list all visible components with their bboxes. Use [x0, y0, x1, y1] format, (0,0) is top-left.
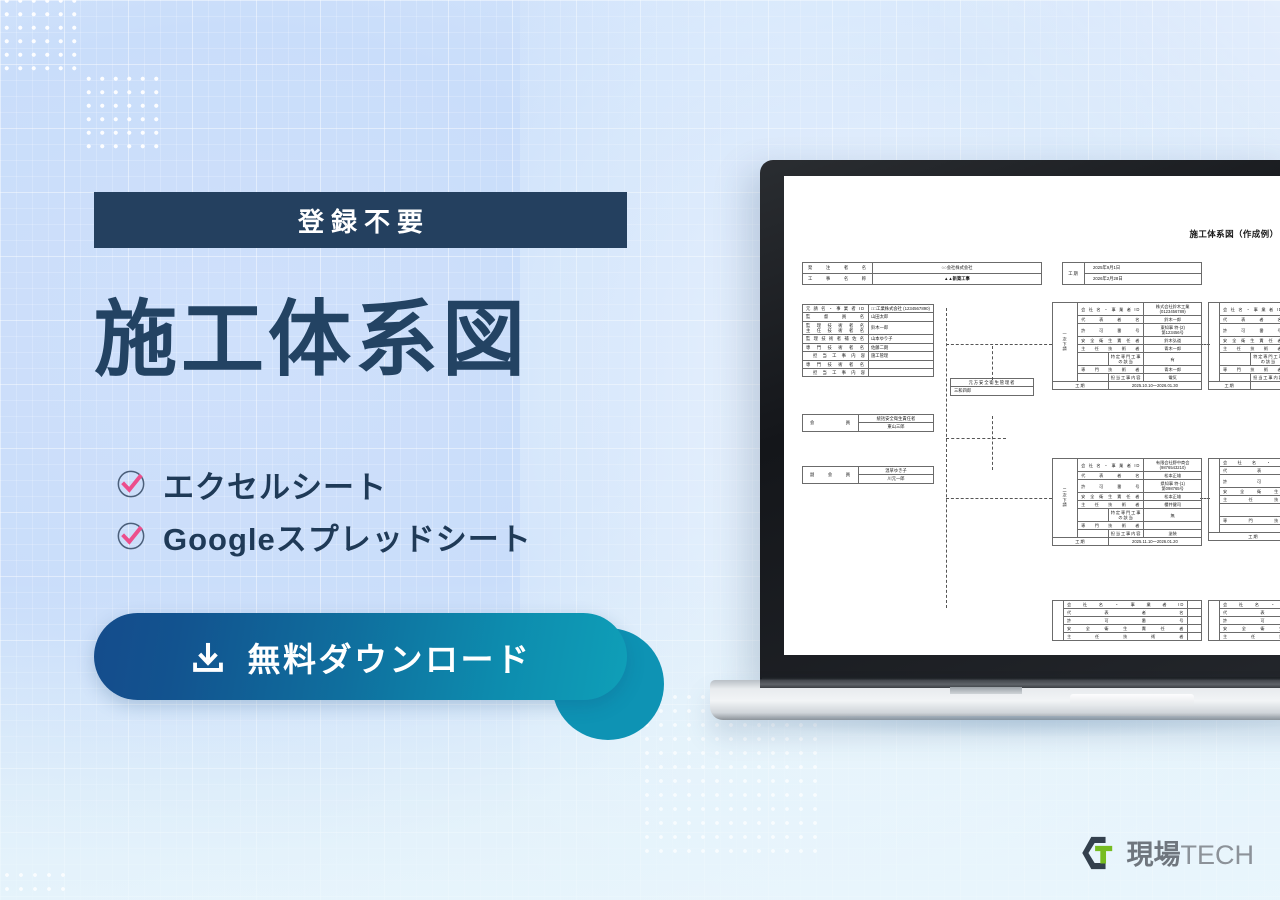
table-row: 副会員 温草ゆき子	[803, 467, 934, 475]
subcontractor-card-1: 一次下請 会社名・事業者ID 株式会社鈴木工業 (0123456789) 代表者…	[1052, 302, 1202, 390]
member-name-0: 東山三郎	[859, 423, 934, 431]
prime-key-7: 担当工事内容	[803, 368, 869, 376]
prime-value-5: 施工管理	[869, 352, 934, 360]
sub-value-chief-2	[1188, 633, 1202, 641]
sub-key-rep: 代表者名	[1220, 316, 1280, 324]
sub-key-period: 工期	[1209, 382, 1251, 390]
tier-label-0: 一次下請	[1053, 303, 1078, 382]
sub-value-period-0: 2025.10.10～2026.01.30	[1108, 382, 1201, 390]
subcontractor-card-3: 会社名・事業者ID 代表者名 許可番号 安全衛生責任者	[1052, 600, 1202, 641]
sub-value-specialty-flag-1: 無	[1144, 509, 1202, 522]
sub-key-spec-eng: 専門技術者	[1220, 517, 1280, 525]
subcontractor-card-4: 会社名・事業者ID メーカー機器株式会社 (1122334455) 代表者名 許…	[1208, 302, 1280, 390]
feature-label: エクセルシート	[163, 462, 387, 507]
sub-key-license: 許可番号	[1220, 617, 1280, 625]
prime-value-3: 山本ゆり子	[869, 335, 934, 343]
table-row: 代表者名	[1209, 609, 1280, 617]
logo-text: 現場TECH	[1127, 833, 1255, 872]
sub-value-rep-1: 松本正雄	[1144, 472, 1202, 480]
prime-value-7	[869, 368, 934, 376]
sub-key-scope: 担当工事内容	[1108, 530, 1144, 538]
table-row: 代表者名	[1053, 609, 1202, 617]
subcontractor-card-6: 会社名・事業者ID 代表者名 許可番号 安全衛生責任者	[1208, 600, 1280, 641]
table-row: 工期	[1209, 382, 1280, 390]
period-to: 2026年2月28日	[1085, 274, 1202, 285]
laptop-trackpad	[1070, 694, 1194, 706]
table-row: 会社名・事業者ID	[1209, 459, 1280, 467]
member-name-1: 川元一郎	[859, 475, 934, 483]
free-download-button[interactable]: 無料ダウンロード	[94, 613, 627, 700]
subcontractor-table: 会社名・事業者ID 代表者名 許可番号 安全衛生責任者	[1208, 458, 1280, 541]
sub-value-spec-eng-0: 青木一郎	[1144, 366, 1202, 374]
tier-label-5	[1209, 601, 1220, 641]
laptop-screen: 施工体系図（作成例） 発注者名 ○○会社株式会社 工事名称 ▲▲新築工事 工	[784, 176, 1280, 655]
member-key-0: 会員	[803, 415, 859, 432]
sub-key-rep: 代表者名	[1064, 609, 1188, 617]
table-row: 専門技術者名	[803, 360, 934, 368]
sub-key-license: 許可番号	[1078, 324, 1144, 337]
table-row: 専門技術者	[1209, 517, 1280, 525]
table-row: 主任技術者	[1209, 633, 1280, 641]
table-row: 三和四郎	[951, 387, 1034, 395]
sub-key-scope: 担当工事内容	[1251, 374, 1280, 382]
table-row: 工期 2025.11.10～2026.01.20	[1053, 538, 1202, 546]
sub-key-scope: 担当工事内容	[1108, 374, 1144, 382]
sub-key-company: 会社名・事業者ID	[1220, 601, 1280, 609]
prime-key-2: 監理技術者名 主任技術者名	[803, 321, 869, 335]
construction-system-diagram-document: 施工体系図（作成例） 発注者名 ○○会社株式会社 工事名称 ▲▲新築工事 工	[784, 176, 1280, 646]
sub-key-rep: 代表者名	[1220, 467, 1280, 475]
sub-value-safety-1: 松本正雄	[1144, 493, 1202, 501]
document-header-table: 発注者名 ○○会社株式会社 工事名称 ▲▲新築工事	[802, 262, 1042, 285]
logo-text-en: TECH	[1181, 840, 1255, 870]
subcontractor-table: 一次下請 会社名・事業者ID 株式会社鈴木工業 (0123456789) 代表者…	[1052, 302, 1202, 390]
sub-key-period: 工期	[1209, 533, 1280, 541]
safety-manager-value: 三和四郎	[951, 387, 1034, 395]
logo-text-jp: 現場	[1127, 840, 1181, 870]
sub-value-license-2	[1188, 617, 1202, 625]
subcontractor-card-5: 会社名・事業者ID 代表者名 許可番号 安全衛生責任者	[1208, 458, 1280, 541]
download-button-label: 無料ダウンロード	[248, 633, 532, 681]
table-row: 代表者名	[1209, 316, 1280, 324]
sub-value-spec-eng-1	[1144, 522, 1202, 530]
connector-h-1	[946, 344, 1052, 345]
table-row: 許可番号	[1053, 617, 1202, 625]
tier-label-1: 二次下請	[1053, 459, 1078, 538]
table-row: 元請名・事業者ID □□工業株式会社 (1234567890)	[803, 305, 934, 313]
sub-key-safety: 安全衛生責任者	[1064, 625, 1188, 633]
sub-key-license: 許可番号	[1078, 480, 1144, 493]
sub-key-spec-eng: 専門技術者	[1078, 366, 1144, 374]
safety-manager-box: 元方安全衛生管理者 三和四郎	[950, 378, 1034, 396]
sub-key-specialty-flag: 特定専門工事の該当	[1251, 353, 1280, 366]
table-row: 一次下請 会社名・事業者ID 株式会社鈴木工業 (0123456789)	[1053, 303, 1202, 316]
feature-list: エクセルシート Googleスプレッドシート	[116, 458, 636, 562]
sub-key-safety: 安全衛生責任者	[1078, 493, 1144, 501]
sub-value-chief-1: 櫻井健司	[1144, 501, 1202, 509]
table-row: 専門技術者名 佐藤二朗	[803, 343, 934, 351]
prime-value-1: 山田太郎	[869, 313, 934, 321]
page-title: 施工体系図	[94, 296, 654, 384]
table-row: 許可番号	[1209, 617, 1280, 625]
sub-key-company: 会社名・事業者ID	[1220, 459, 1280, 467]
laptop-shadow	[722, 716, 1280, 738]
sub-key-chief: 主任技術者	[1220, 345, 1280, 353]
document-title: 施工体系図（作成例）	[1084, 228, 1280, 240]
sub-key-company: 会社名・事業者ID	[1078, 303, 1144, 316]
sub-key-company: 会社名・事業者ID	[1078, 459, 1144, 472]
table-row: 許可番号	[1209, 475, 1280, 488]
sub-key-company: 会社名・事業者ID	[1064, 601, 1188, 609]
sub-key-specialty-flag: 特定専門工事の該当	[1108, 353, 1144, 366]
prime-key-4: 専門技術者名	[803, 343, 869, 351]
member-role-1: 温草ゆき子	[859, 467, 934, 475]
laptop-notch	[950, 687, 1022, 694]
sub-value-company-1: 有限会社野中商会 (9876543210)	[1144, 459, 1202, 472]
dot-pattern-top-left-a	[0, 0, 78, 76]
connector-vertical-main	[946, 308, 947, 608]
list-item: Googleスプレッドシート	[116, 510, 636, 562]
period-from: 2025年9月1日	[1085, 263, 1202, 274]
sub-key-chief: 主任技術者	[1220, 496, 1280, 504]
sub-value-chief-0: 青木一郎	[1144, 345, 1202, 353]
connector-h-3	[946, 438, 1006, 439]
sub-key-spec-eng: 専門技術者	[1220, 366, 1280, 374]
prime-value-2: 鈴木一郎	[869, 321, 934, 335]
member-key-1: 副会員	[803, 467, 859, 484]
sub-value-period-1: 2025.11.10～2026.01.20	[1108, 538, 1201, 546]
table-row: 担当工事内容	[1209, 525, 1280, 533]
period-key: 工期	[1063, 263, 1085, 285]
table-row: 主任技術者	[1209, 496, 1280, 504]
sub-value-scope-0: 電気	[1144, 374, 1202, 382]
sub-key-safety: 安全衛生責任者	[1220, 488, 1280, 496]
header-value-0: ○○会社株式会社	[873, 263, 1042, 274]
check-circle-icon	[116, 469, 146, 499]
sub-value-period-3	[1251, 382, 1280, 390]
sub-key-period: 工期	[1053, 538, 1109, 546]
sub-value-rep-2	[1188, 609, 1202, 617]
sub-key-safety: 安全衛生責任者	[1220, 625, 1280, 633]
tier-label-2	[1053, 601, 1064, 641]
sub-key-license: 許可番号	[1064, 617, 1188, 625]
dot-pattern-bottom-left	[0, 868, 70, 900]
member-box-2: 副会員 温草ゆき子 川元一郎	[802, 466, 934, 484]
table-row: 監理技術者補佐名 山本ゆり子	[803, 335, 934, 343]
sub-key-chief: 主任技術者	[1078, 345, 1144, 353]
sub-key-company: 会社名・事業者ID	[1220, 303, 1280, 316]
table-row: 工期	[1209, 533, 1280, 541]
connector-v-fee	[992, 416, 993, 470]
table-row: 安全衛生責任者	[1209, 625, 1280, 633]
table-row: 工事名称 ▲▲新築工事	[803, 274, 1042, 285]
sub-value-scope-1: 塗装	[1144, 530, 1202, 538]
table-row: 担当工事内容 施工管理	[803, 352, 934, 360]
sub-key-spec-eng: 専門技術者	[1078, 522, 1144, 530]
subcontractor-table: 会社名・事業者ID メーカー機器株式会社 (1122334455) 代表者名 許…	[1208, 302, 1280, 390]
prime-key-3: 監理技術者補佐名	[803, 335, 869, 343]
table-row: 特定専門工事の該当	[1209, 504, 1280, 517]
prime-value-0: □□工業株式会社 (1234567890)	[869, 305, 934, 313]
connector-h-2	[946, 498, 1052, 499]
sub-value-rep-0: 鈴木一郎	[1144, 316, 1202, 324]
tier-label-3	[1209, 303, 1220, 382]
no-registration-badge: 登録不要	[94, 192, 627, 248]
table-row: 代表者名	[1209, 467, 1280, 475]
sub-key-rep: 代表者名	[1220, 609, 1280, 617]
table-row: 安全衛生責任者	[1209, 337, 1280, 345]
download-icon	[190, 639, 226, 675]
table-row: 担当工事内容	[803, 368, 934, 376]
sub-key-rep: 代表者名	[1078, 472, 1144, 480]
sub-value-license-0: 東知事 特-(2) 第123456号	[1144, 324, 1202, 337]
table-row: 安全衛生責任者	[1053, 625, 1202, 633]
sub-key-chief: 主任技術者	[1064, 633, 1188, 641]
table-row: 専門技術者	[1209, 366, 1280, 374]
sub-key-rep: 代表者名	[1078, 316, 1144, 324]
sub-value-company-2	[1188, 601, 1202, 609]
prime-key-6: 専門技術者名	[803, 360, 869, 368]
subcontractor-table: 二次下請 会社名・事業者ID 有限会社野中商会 (9876543210) 代表者…	[1052, 458, 1202, 546]
brand-logo[interactable]: 現場TECH	[1076, 833, 1255, 872]
subcontractor-table: 会社名・事業者ID 代表者名 許可番号 安全衛生責任者	[1052, 600, 1202, 641]
table-row: 主任技術者	[1053, 633, 1202, 641]
sub-value-safety-0: 鈴木弘道	[1144, 337, 1202, 345]
member-box-1: 会員 統括安全衛生責任者 東山三郎	[802, 414, 934, 432]
table-row: 会社名・事業者ID	[1209, 601, 1280, 609]
list-item: エクセルシート	[116, 458, 636, 510]
tier-label-4	[1209, 459, 1220, 533]
table-row: 監督員名 山田太郎	[803, 313, 934, 321]
sub-key-safety: 安全衛生責任者	[1220, 337, 1280, 345]
header-key-0: 発注者名	[803, 263, 873, 274]
prime-value-6	[869, 360, 934, 368]
prime-key-5: 担当工事内容	[803, 352, 869, 360]
table-row: 工期 2025.10.10～2026.01.30	[1053, 382, 1202, 390]
prime-key-0: 元請名・事業者ID	[803, 305, 869, 313]
member-role-0: 統括安全衛生責任者	[859, 415, 934, 423]
table-row: 主任技術者	[1209, 345, 1280, 353]
header-key-1: 工事名称	[803, 274, 873, 285]
sub-value-company-0: 株式会社鈴木工業 (0123456789)	[1144, 303, 1202, 316]
sub-key-specialty-flag: 特定専門工事の該当	[1108, 509, 1144, 522]
table-row: 工期 2025年9月1日	[1063, 263, 1202, 274]
laptop-lid: 施工体系図（作成例） 発注者名 ○○会社株式会社 工事名称 ▲▲新築工事 工	[760, 160, 1280, 685]
table-row: 会員 統括安全衛生責任者	[803, 415, 934, 423]
header-value-1: ▲▲新築工事	[873, 274, 1042, 285]
subcontractor-card-2: 二次下請 会社名・事業者ID 有限会社野中商会 (9876543210) 代表者…	[1052, 458, 1202, 546]
table-row: 安全衛生責任者	[1209, 488, 1280, 496]
sub-key-chief: 主任技術者	[1078, 501, 1144, 509]
hero-content: 登録不要 施工体系図 エクセルシート Googleスプレッドシート 無料ダウンロ…	[94, 0, 654, 900]
sub-value-specialty-flag-0: 有	[1144, 353, 1202, 366]
table-row: 会社名・事業者ID	[1053, 601, 1202, 609]
document-period-table: 工期 2025年9月1日 2026年2月28日	[1062, 262, 1202, 285]
badge-label: 登録不要	[291, 202, 430, 239]
sub-key-license: 許可番号	[1220, 475, 1280, 488]
sub-value-safety-2	[1188, 625, 1202, 633]
subcontractor-table: 会社名・事業者ID 代表者名 許可番号 安全衛生責任者	[1208, 600, 1280, 641]
connector-v-safety	[992, 346, 993, 380]
table-row: 許可番号	[1209, 324, 1280, 337]
check-circle-icon	[116, 521, 146, 551]
sub-key-safety: 安全衛生責任者	[1078, 337, 1144, 345]
sub-value-license-1: 県知事 特-(1) 第098765号	[1144, 480, 1202, 493]
sub-key-chief: 主任技術者	[1220, 633, 1280, 641]
prime-key-1: 監督員名	[803, 313, 869, 321]
laptop-mockup: 施工体系図（作成例） 発注者名 ○○会社株式会社 工事名称 ▲▲新築工事 工	[752, 160, 1280, 760]
feature-label: Googleスプレッドシート	[163, 514, 532, 559]
table-row: 二次下請 会社名・事業者ID 有限会社野中商会 (9876543210)	[1053, 459, 1202, 472]
table-row: 発注者名 ○○会社株式会社	[803, 263, 1042, 274]
table-row: 特定専門工事の該当	[1209, 353, 1280, 366]
sub-key-license: 許可番号	[1220, 324, 1280, 337]
hex-c-arrow-icon	[1076, 834, 1118, 872]
sub-key-period: 工期	[1053, 382, 1109, 390]
table-row: 監理技術者名 主任技術者名 鈴木一郎	[803, 321, 934, 335]
table-row: 担当工事内容	[1209, 374, 1280, 382]
prime-value-4: 佐藤二朗	[869, 343, 934, 351]
table-row: 会社名・事業者ID メーカー機器株式会社 (1122334455)	[1209, 303, 1280, 316]
prime-contractor-table: 元請名・事業者ID □□工業株式会社 (1234567890) 監督員名 山田太…	[802, 304, 934, 377]
